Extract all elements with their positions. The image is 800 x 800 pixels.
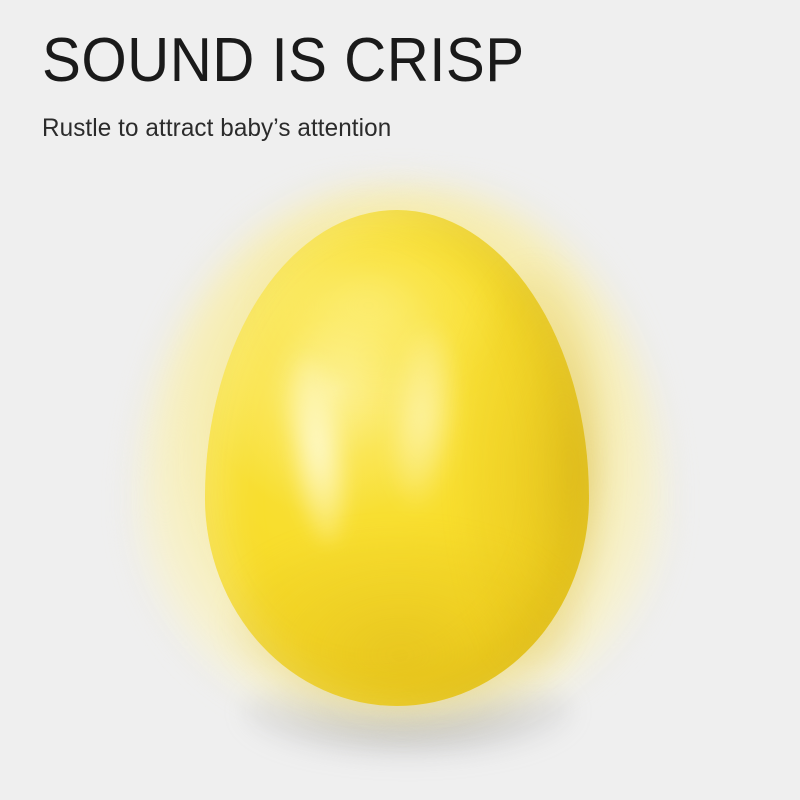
copy-block: SOUND IS CRISP Rustle to attract baby’s …: [42, 26, 742, 144]
page-subtitle: Rustle to attract baby’s attention: [42, 112, 721, 144]
egg-specular-highlight-right: [383, 326, 460, 509]
egg-specular-highlight-left: [279, 352, 358, 547]
page-title: SOUND IS CRISP: [42, 26, 700, 96]
promo-banner: SOUND IS CRISP Rustle to attract baby’s …: [0, 0, 800, 800]
egg-top-sheen: [265, 238, 495, 388]
